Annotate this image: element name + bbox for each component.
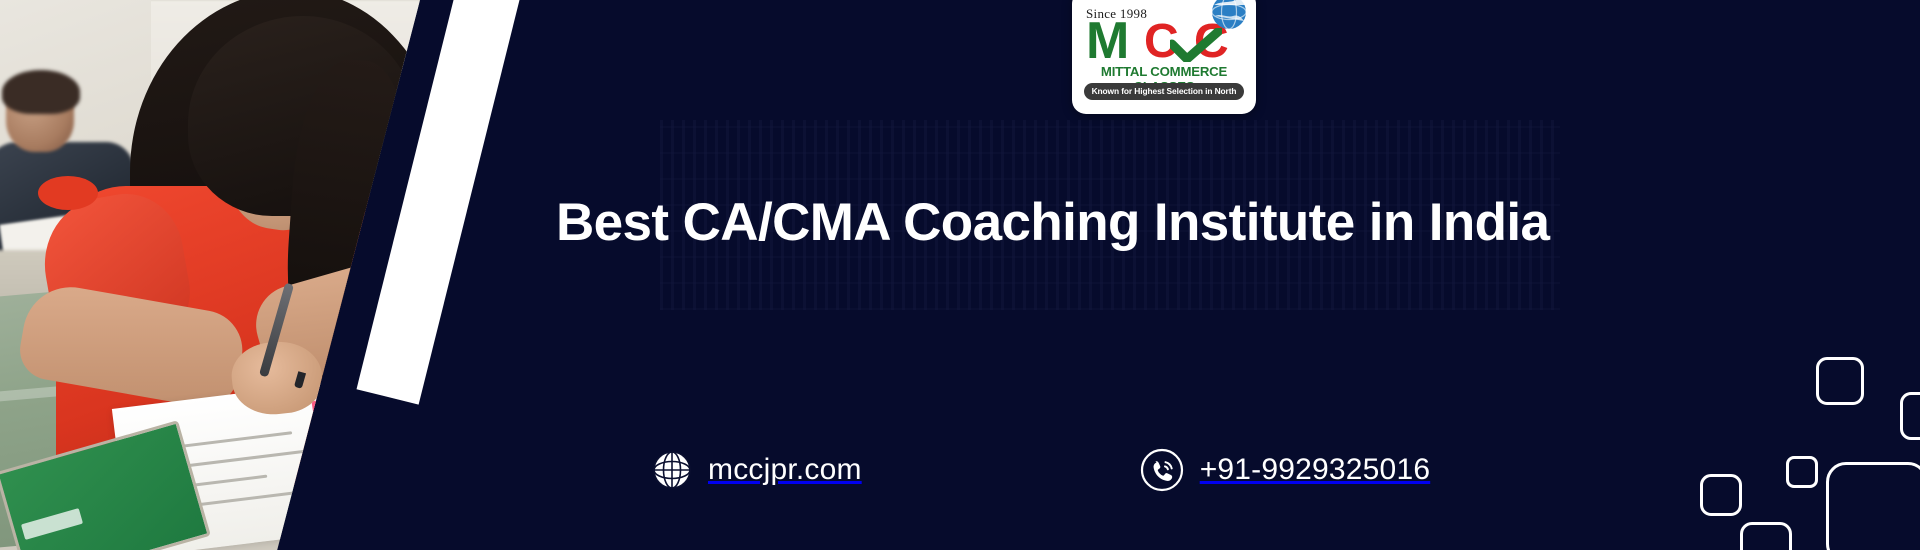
decorative-square [1740,522,1792,550]
photo-canvas [0,0,420,550]
checkmark-icon [1170,28,1222,62]
phone-label: +91-9929325016 [1200,453,1431,487]
phone-link[interactable]: +91-9929325016 [1140,448,1431,492]
sleeve-frill [38,176,98,210]
logo-tagline: Known for Highest Selection in North Ind… [1084,83,1244,100]
decorative-square [1826,462,1920,550]
website-link[interactable]: mccjpr.com [652,450,862,490]
background-student-hair [2,70,80,114]
decorative-square [1700,474,1742,516]
promo-banner: Since 1998 M C C MITTAL COMMERCE CLASSES… [0,0,1920,550]
contact-row: mccjpr.com +91-9929325016 [652,448,1430,492]
mcc-logo[interactable]: Since 1998 M C C MITTAL COMMERCE CLASSES… [1072,0,1256,114]
website-label: mccjpr.com [708,453,862,487]
decorative-square [1816,357,1864,405]
decorative-square [1900,392,1920,440]
phone-icon [1140,448,1184,492]
globe-icon [652,450,692,490]
globe-icon [1208,0,1250,32]
logo-letter-m: M [1086,18,1127,64]
student-photo [0,0,420,550]
page-title: Best CA/CMA Coaching Institute in India [556,193,1856,252]
decorative-square [1786,456,1818,488]
